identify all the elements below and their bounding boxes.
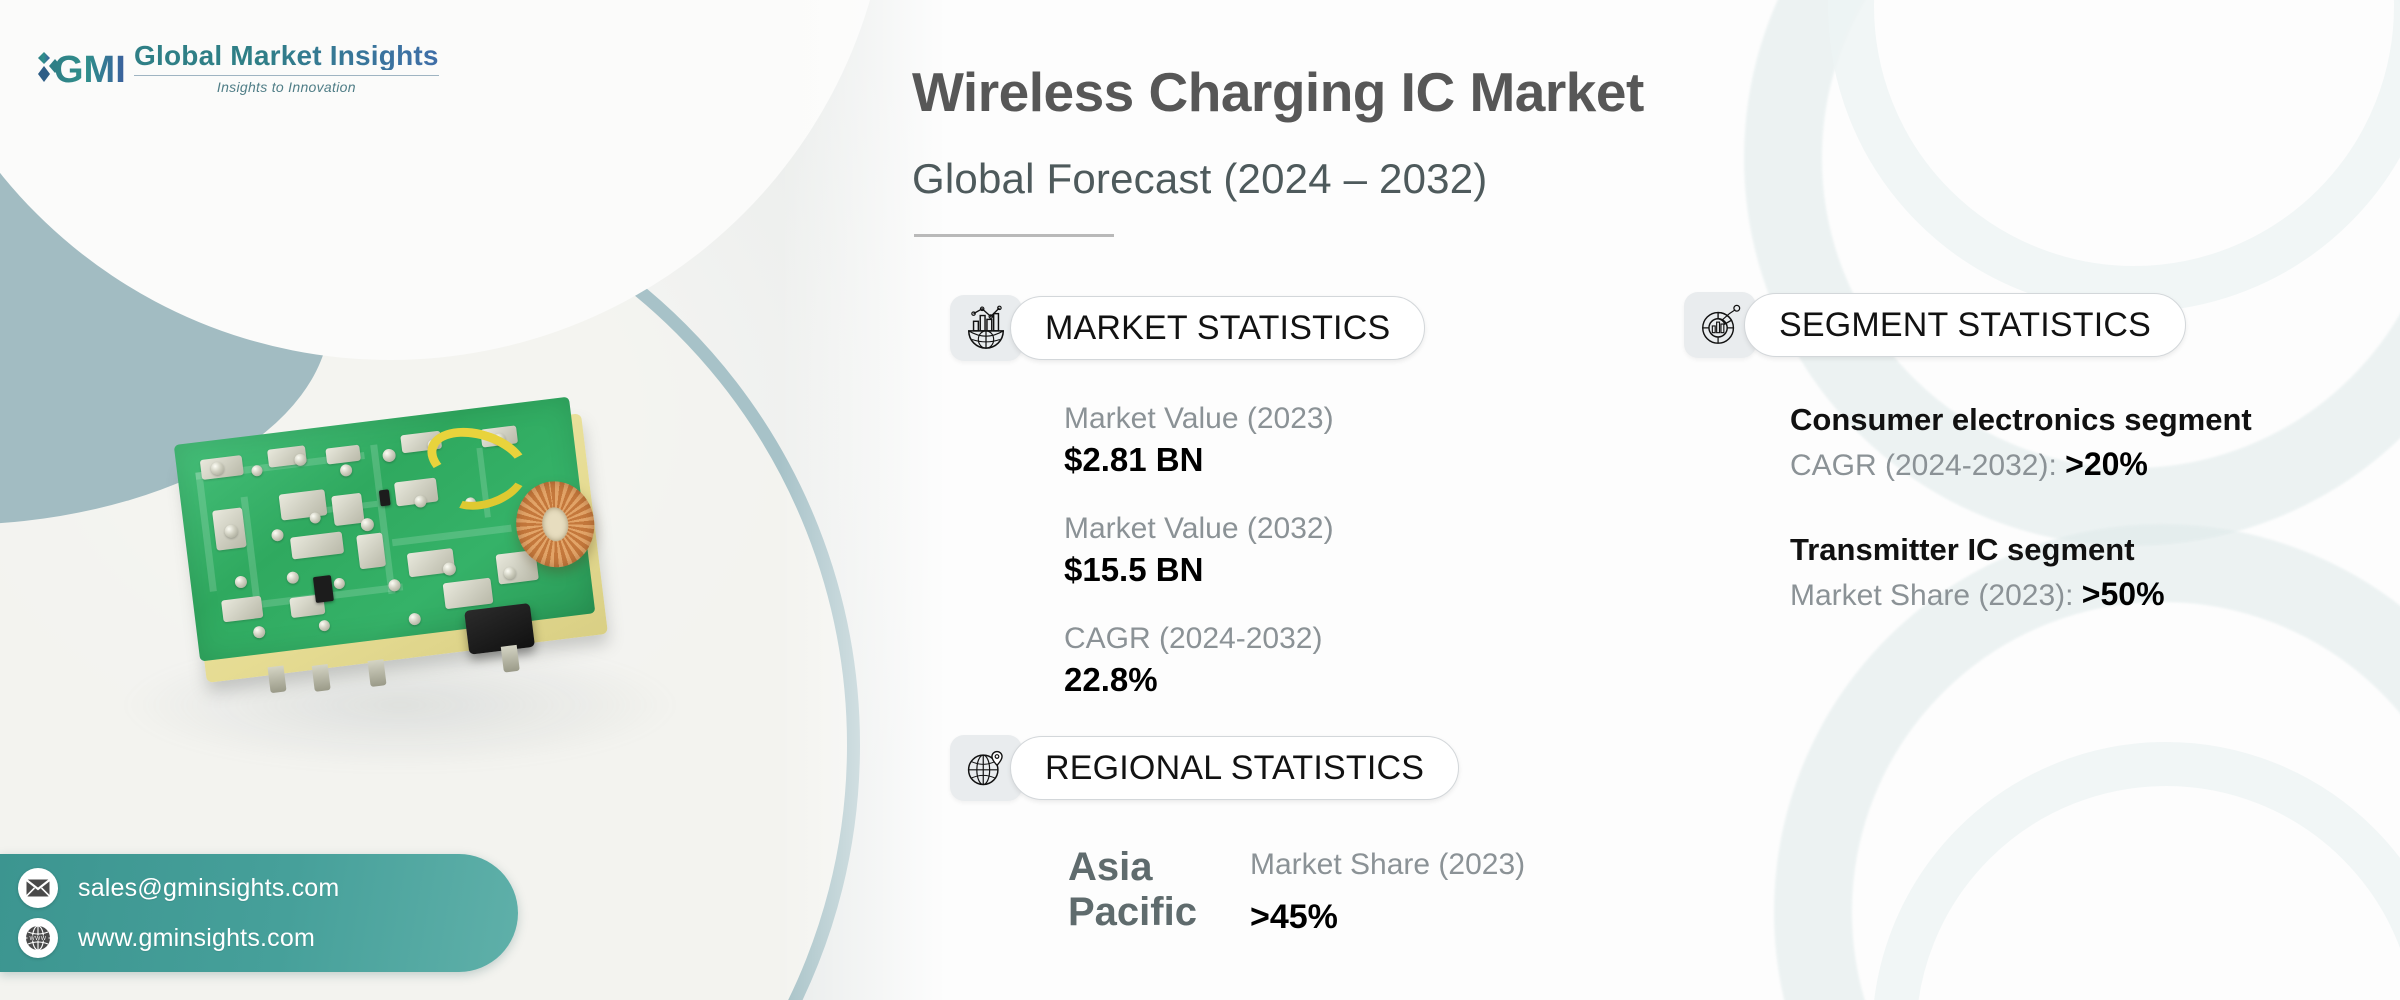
market-item-2-value: 22.8% bbox=[1064, 659, 1322, 702]
brand-logo[interactable]: GMI Global Market Insights Insights to I… bbox=[32, 42, 439, 94]
market-item-2-label: CAGR (2024-2032) bbox=[1064, 618, 1322, 659]
segment-item-0-value: >20% bbox=[2065, 446, 2148, 482]
segment-item-1-title: Transmitter IC segment bbox=[1790, 528, 2165, 572]
market-item-0-value: $2.81 BN bbox=[1064, 439, 1334, 482]
svg-text:WWW: WWW bbox=[29, 936, 46, 942]
contact-email-row[interactable]: sales@gminsights.com bbox=[18, 868, 518, 908]
infographic-canvas: GMI Global Market Insights Insights to I… bbox=[0, 0, 2400, 1000]
pcb-pin bbox=[312, 664, 331, 692]
market-item-0-label: Market Value (2023) bbox=[1064, 398, 1334, 439]
region-name: Asia Pacific bbox=[1068, 845, 1197, 935]
region-share-label: Market Share (2023) bbox=[1250, 848, 1525, 882]
gmi-diamond-logo-icon: GMI bbox=[32, 44, 124, 92]
segment-item-1-value: >50% bbox=[2082, 576, 2165, 612]
inductor-core-hole bbox=[540, 506, 570, 543]
product-photo-panel bbox=[0, 0, 960, 1000]
page-subtitle: Global Forecast (2024 – 2032) bbox=[912, 155, 1487, 203]
segment-statistics-badge[interactable]: SEGMENT STATISTICS bbox=[1684, 292, 2186, 358]
region-share-value: >45% bbox=[1250, 898, 1338, 937]
regional-statistics-badge[interactable]: REGIONAL STATISTICS bbox=[950, 735, 1459, 801]
svg-text:GMI: GMI bbox=[54, 49, 124, 91]
pcb-pin bbox=[368, 659, 387, 687]
regional-statistics-label: REGIONAL STATISTICS bbox=[1045, 749, 1424, 788]
regional-statistics-pill[interactable]: REGIONAL STATISTICS bbox=[1010, 736, 1459, 800]
market-statistics-pill[interactable]: MARKET STATISTICS bbox=[1010, 296, 1425, 360]
segment-item-0: Consumer electronics segment CAGR (2024-… bbox=[1790, 398, 2252, 488]
logo-divider bbox=[134, 75, 439, 76]
logo-tagline: Insights to Innovation bbox=[134, 80, 439, 94]
region-name-line1: Asia bbox=[1068, 845, 1197, 890]
contact-website-text: www.gminsights.com bbox=[78, 924, 315, 953]
black-capacitor bbox=[464, 603, 535, 655]
wireless-charging-pcb-photo bbox=[174, 393, 632, 703]
segment-item-1-metric: Market Share (2023): bbox=[1790, 579, 2082, 612]
logo-wordmark: Global Market Insights Insights to Innov… bbox=[134, 42, 439, 94]
market-item-0: Market Value (2023) $2.81 BN bbox=[1064, 398, 1334, 482]
market-statistics-label: MARKET STATISTICS bbox=[1045, 309, 1390, 348]
logo-company-name: Global Market Insights bbox=[134, 42, 439, 70]
segment-item-1-metric-row: Market Share (2023): >50% bbox=[1790, 572, 2165, 618]
www-globe-icon: WWW bbox=[18, 918, 58, 958]
segment-statistics-label: SEGMENT STATISTICS bbox=[1779, 306, 2151, 345]
market-item-2: CAGR (2024-2032) 22.8% bbox=[1064, 618, 1322, 702]
pcb-pin bbox=[501, 645, 520, 673]
region-name-line2: Pacific bbox=[1068, 890, 1197, 935]
page-title: Wireless Charging IC Market bbox=[912, 60, 1644, 124]
market-statistics-badge[interactable]: MARKET STATISTICS bbox=[950, 295, 1425, 361]
market-item-1-label: Market Value (2032) bbox=[1064, 508, 1334, 549]
contact-bar: sales@gminsights.com WWW www.gminsights.… bbox=[0, 854, 518, 972]
segment-statistics-pill[interactable]: SEGMENT STATISTICS bbox=[1744, 293, 2186, 357]
segment-item-1: Transmitter IC segment Market Share (202… bbox=[1790, 528, 2165, 618]
segment-item-0-metric-row: CAGR (2024-2032): >20% bbox=[1790, 442, 2252, 488]
market-item-1: Market Value (2032) $15.5 BN bbox=[1064, 508, 1334, 592]
segment-item-0-title: Consumer electronics segment bbox=[1790, 398, 2252, 442]
segment-item-0-metric: CAGR (2024-2032): bbox=[1790, 449, 2065, 482]
contact-email-text: sales@gminsights.com bbox=[78, 874, 339, 903]
envelope-icon bbox=[18, 868, 58, 908]
subtitle-divider bbox=[914, 234, 1114, 237]
contact-website-row[interactable]: WWW www.gminsights.com bbox=[18, 918, 518, 958]
pcb-pin bbox=[268, 665, 287, 693]
market-item-1-value: $15.5 BN bbox=[1064, 549, 1334, 592]
content-area: Wireless Charging IC Market Global Forec… bbox=[900, 0, 2400, 1000]
